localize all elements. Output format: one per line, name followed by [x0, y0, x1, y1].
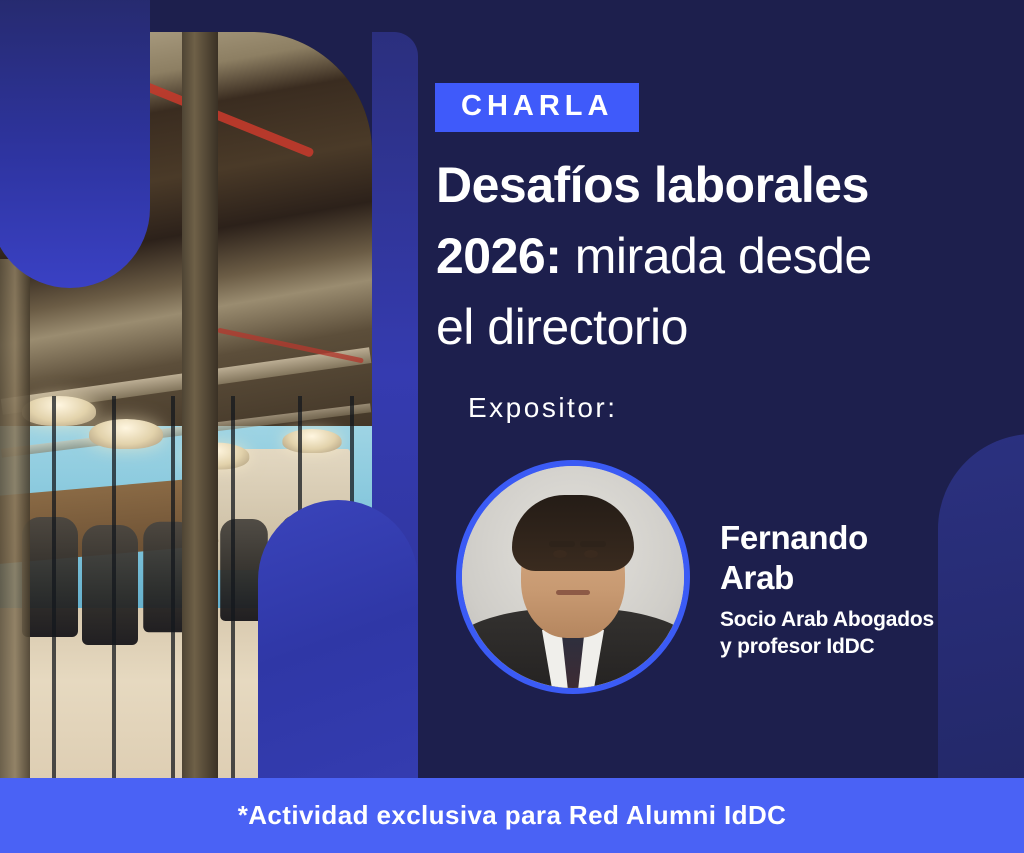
page-title: Desafíos laborales 2026: mirada desde el…: [436, 150, 1016, 363]
speaker-role-line-1: Socio Arab Abogados: [720, 608, 934, 631]
photo-window-mullion: [231, 396, 235, 790]
bottom-banner: *Actividad exclusiva para Red Alumni IdD…: [0, 778, 1024, 853]
photo-pendant-lamp: [89, 419, 163, 449]
speaker-name: Fernando Arab: [720, 518, 1020, 599]
promotional-poster: CHARLA Desafíos laborales 2026: mirada d…: [0, 0, 1024, 853]
photo-chair: [82, 525, 138, 645]
title-line-2-light: mirada desde: [561, 228, 871, 284]
charla-badge: CHARLA: [435, 83, 639, 132]
photo-window-mullion: [112, 396, 116, 790]
avatar-mouth: [556, 590, 590, 595]
speaker-first-name: Fernando: [720, 519, 868, 556]
photo-pendant-lamp: [22, 396, 96, 426]
photo-pendant-lamp: [283, 429, 342, 453]
speaker-info: Fernando Arab Socio Arab Abogados y prof…: [720, 518, 1020, 661]
photo-window-mullion: [171, 396, 175, 790]
expositor-label: Expositor:: [468, 392, 618, 424]
decor-rounded-block-topleft: [0, 0, 150, 288]
avatar-eyebrow: [549, 541, 575, 547]
speaker-last-name: Arab: [720, 559, 794, 596]
decor-arch-left: [258, 500, 418, 778]
photo-chair: [22, 517, 78, 637]
speaker-role: Socio Arab Abogados y profesor IdDC: [720, 606, 1020, 661]
speaker-role-line-2: y profesor IdDC: [720, 635, 875, 658]
title-line-1: Desafíos laborales: [436, 157, 869, 213]
avatar-eyebrow: [580, 541, 606, 547]
title-line-3: el directorio: [436, 299, 688, 355]
photo-window-mullion: [52, 396, 56, 790]
content-area: CHARLA Desafíos laborales 2026: mirada d…: [418, 0, 1024, 790]
photo-column: [0, 259, 30, 790]
photo-column: [182, 32, 218, 790]
banner-note: *Actividad exclusiva para Red Alumni IdD…: [238, 800, 787, 831]
title-line-2-strong: 2026:: [436, 228, 561, 284]
speaker-avatar: [456, 460, 690, 694]
